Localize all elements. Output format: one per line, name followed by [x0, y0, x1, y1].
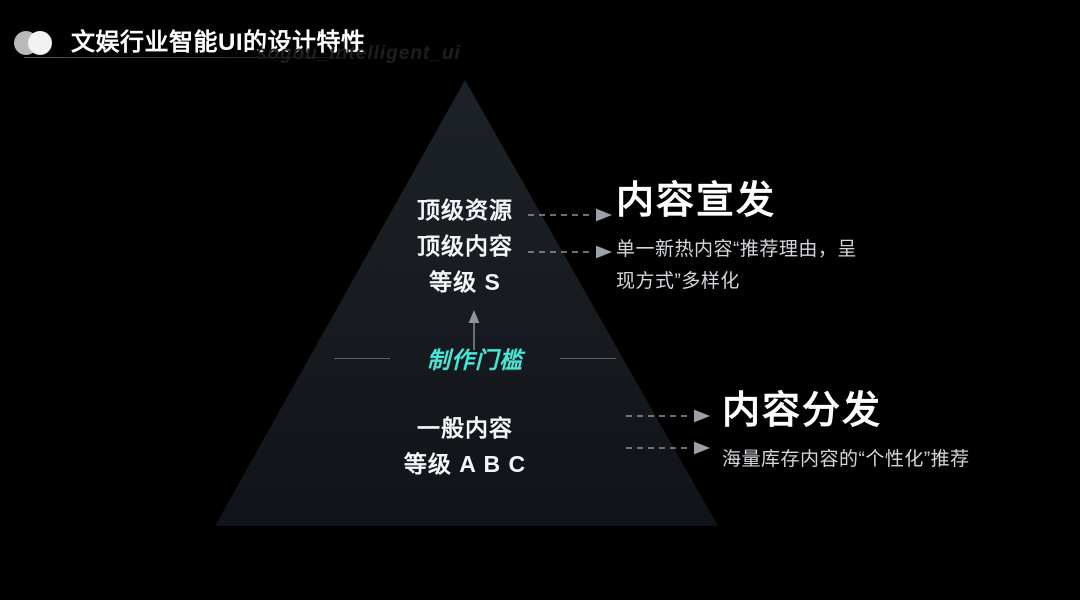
- production-threshold-marker: 制作门槛: [330, 308, 620, 378]
- tier-abc-labels: 一般内容 等级 A B C: [345, 410, 585, 482]
- content-promotion-block: 内容宣发 单一新热内容“推荐理由，呈现方式”多样化: [616, 178, 864, 298]
- threshold-label: 制作门槛: [330, 346, 620, 374]
- dashed-arrow-right-icon-3: [626, 409, 712, 423]
- brand-logo-icon: [14, 31, 59, 55]
- watermark-text: sogou_intelligent_ui: [256, 43, 461, 65]
- arrow-up-icon: [464, 308, 484, 350]
- content-distribution-description: 海量库存内容的“个性化”推荐: [722, 444, 970, 476]
- slide-canvas: 文娱行业智能UI的设计特性 sogou_intelligent_ui 顶级资源 …: [0, 0, 1080, 600]
- logo-circle-right: [28, 31, 52, 55]
- tier-abc-line-2: 等级 A B C: [345, 446, 585, 482]
- dashed-arrow-right-icon-1: [528, 208, 614, 222]
- tier-s-line-3: 等级 S: [345, 264, 585, 300]
- content-distribution-block: 内容分发 海量库存内容的“个性化”推荐: [722, 388, 970, 476]
- content-distribution-heading: 内容分发: [722, 388, 970, 434]
- dashed-arrow-right-icon-4: [626, 441, 712, 455]
- content-promotion-heading: 内容宣发: [616, 178, 864, 224]
- dashed-arrow-right-icon-2: [528, 245, 614, 259]
- tier-abc-line-1: 一般内容: [345, 410, 585, 446]
- content-promotion-description: 单一新热内容“推荐理由，呈现方式”多样化: [616, 234, 864, 298]
